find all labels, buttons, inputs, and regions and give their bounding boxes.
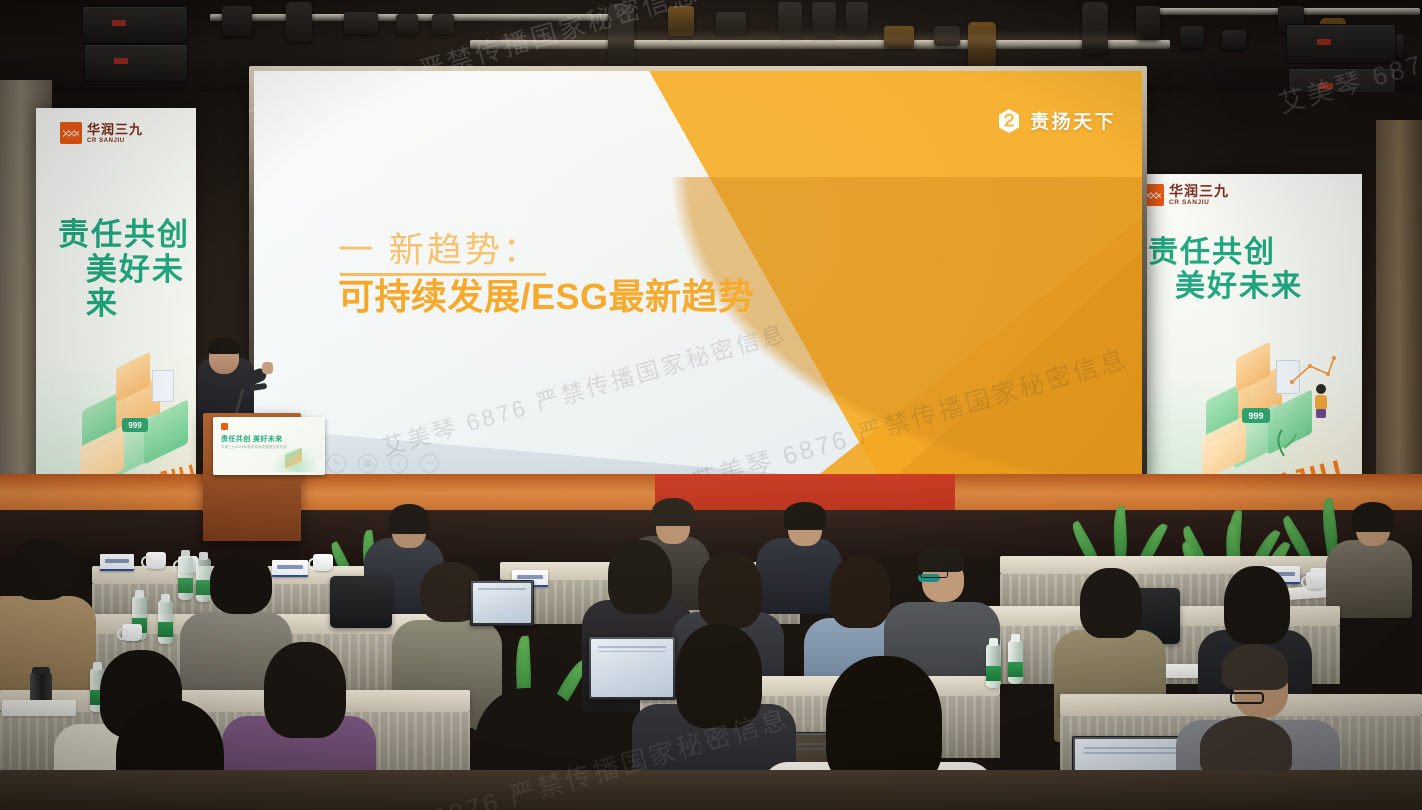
banner-left: 华润三九 CR SANJIU 责任共创 美好未来 999 CR SANJIU (36, 108, 196, 528)
person-hair (1224, 566, 1290, 644)
banner-right-headline: 责任共创 美好未来 (1148, 236, 1303, 303)
person-hair (652, 498, 694, 526)
stage-spotlight-icon (846, 2, 868, 34)
person-hair (608, 540, 672, 614)
isometric-illustration-left: 999 (60, 356, 190, 476)
person-hair (1200, 716, 1292, 778)
hexagon-mark-icon (997, 108, 1021, 134)
slide-tray-icon[interactable]: ▤ (358, 454, 377, 473)
stage-spotlight-icon (286, 2, 312, 42)
person-hair (10, 538, 74, 600)
cr-sanjiu-logo-right: 华润三九 CR SANJIU (1142, 184, 1229, 207)
water-bottle (986, 644, 1001, 688)
person-hair (1080, 568, 1142, 638)
stage-spotlight-icon (396, 14, 418, 34)
person-hair (698, 552, 762, 628)
water-bottle (1008, 640, 1023, 684)
stage-spotlight-icon (812, 2, 836, 36)
stage-spotlight-icon (716, 12, 746, 34)
line-array-speaker (1286, 24, 1396, 64)
stage-spotlight-icon (668, 6, 694, 36)
stage-spotlight-icon (1222, 30, 1246, 50)
speaker-hand (262, 362, 273, 374)
stage-spotlight-icon (1136, 6, 1160, 40)
person-hair (918, 546, 964, 572)
podium-sign-title: 责任共创 美好未来 (221, 434, 283, 444)
person-hair (389, 504, 429, 534)
brand-name-en: CR SANJIU (87, 138, 143, 144)
cr-sanjiu-mark-icon (221, 423, 228, 430)
laptop-lid (470, 580, 534, 626)
eyeglasses-icon (920, 570, 948, 578)
badge-999: 999 (122, 418, 148, 432)
projection-screen-frame: 责扬天下 一 新趋势： 可持续发展/ESG最新趋势 ‹ ✎ ▤ ⌕ ⋯ 艾美琴 … (249, 66, 1147, 484)
water-bottle (158, 600, 173, 644)
name-card (100, 554, 134, 571)
notepad (2, 700, 76, 716)
zoom-icon[interactable]: ⌕ (389, 454, 408, 473)
person-hair (830, 556, 890, 628)
stage-spotlight-icon (222, 6, 252, 36)
stage-spotlight-icon (344, 12, 378, 34)
banner-left-headline: 责任共创 美好未来 (58, 218, 196, 322)
stage-spotlight-icon (1180, 26, 1204, 48)
person-figure-icon (1308, 382, 1334, 424)
eyeglasses-icon (1230, 692, 1264, 704)
more-options-icon[interactable]: ⋯ (420, 454, 439, 473)
headline-line-2: 美好未来 (1148, 270, 1303, 304)
cr-sanjiu-logo-left: 华润三九 CR SANJIU (60, 122, 143, 144)
slide-title-line-2: 可持续发展/ESG最新趋势 (338, 277, 755, 317)
presentation-slide[interactable]: 责扬天下 一 新趋势： 可持续发展/ESG最新趋势 ‹ ✎ ▤ ⌕ ⋯ 艾美琴 … (254, 71, 1142, 479)
speaker-hair (208, 338, 240, 354)
brand-name-en: CR SANJIU (1169, 200, 1229, 207)
line-array-speaker (84, 44, 188, 82)
chair (330, 576, 392, 628)
brand-name-cn: 华润三九 (87, 123, 143, 136)
headline-line-1: 责任共创 (1148, 236, 1276, 269)
light-glow (500, 36, 1140, 44)
person-hair (264, 642, 346, 738)
slide-logo: 责扬天下 (997, 107, 1116, 134)
cr-sanjiu-mark-icon (60, 122, 82, 144)
brand-name-cn: 华润三九 (1169, 184, 1229, 198)
laptop-lid (588, 636, 676, 700)
line-array-speaker (82, 6, 188, 44)
conference-hall-photo: 华润三九 CR SANJIU 责任共创 美好未来 999 CR SANJIU 华… (0, 0, 1422, 810)
podium-sign-illustration (273, 446, 319, 472)
lighting-truss-rear (210, 14, 630, 21)
tea-mug (1306, 572, 1326, 589)
carpet-floor (0, 770, 1422, 810)
stage-spotlight-icon (968, 22, 996, 68)
tea-mug (146, 552, 166, 569)
stage-spotlight-icon (1082, 2, 1108, 54)
badge-999: 999 (1242, 408, 1270, 423)
headline-line-1: 责任共创 (58, 217, 190, 252)
slide-logo-text: 责扬天下 (1030, 107, 1116, 134)
headline-line-2: 美好未来 (58, 253, 196, 322)
person-hair (210, 552, 272, 614)
person-hair (784, 502, 826, 530)
person-hair (1222, 644, 1288, 690)
tea-mug (122, 624, 142, 641)
stage-spotlight-icon (432, 14, 454, 34)
podium-sign: 责任共创 美好未来 华润三九2024年度可持续发展报告发布会 (213, 417, 325, 475)
water-bottle (196, 558, 211, 602)
stage-spotlight-icon (778, 2, 802, 36)
water-bottle (178, 556, 193, 600)
slide-title-line-1: 一 新趋势： (338, 231, 755, 272)
pen-icon[interactable]: ✎ (327, 454, 346, 473)
slide-shape-curve (574, 177, 1142, 479)
laptop-screen[interactable] (591, 639, 673, 697)
laptop-screen[interactable] (473, 583, 531, 623)
person-hair (1352, 502, 1394, 532)
banner-right: 华润三九 CR SANJIU 责任共创 美好未来 999 (1126, 174, 1362, 510)
slide-title-block: 一 新趋势： 可持续发展/ESG最新趋势 (338, 231, 755, 317)
person-hair (676, 624, 762, 728)
bamboo-plant-icon (1268, 426, 1300, 456)
name-card (272, 560, 308, 577)
tea-mug (313, 554, 333, 571)
